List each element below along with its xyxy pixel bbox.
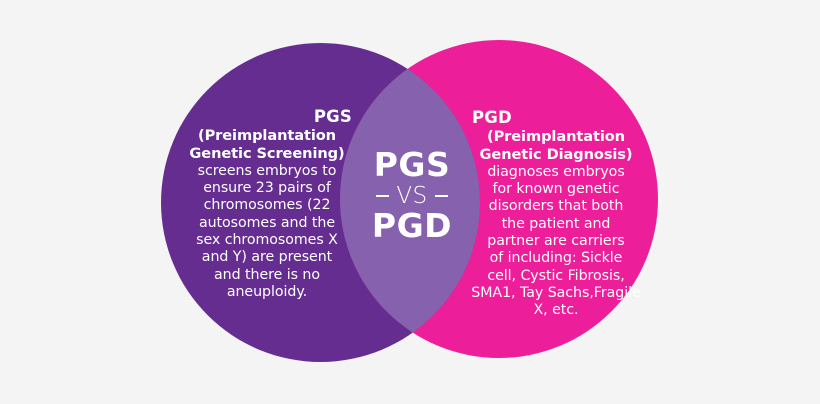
pgd-description-line: partner are carriers [466,233,646,250]
pgs-description-line: and Y) are present [178,249,356,266]
center-vs-badge: PGS VS PGD [358,148,466,243]
venn-diagram: PGS (Preimplantation Genetic Screening) … [0,0,820,404]
pgd-expansion-line-1: (Preimplantation [466,128,646,146]
pgd-expansion-line-2: Genetic Diagnosis) [466,146,646,164]
pgd-description-line: disorders that both [466,198,646,215]
pgd-description-line: of including: Sickle [466,250,646,267]
pgs-description-line: sex chromosomes X [178,232,356,249]
pgd-description-line: diagnoses embryos [466,164,646,181]
pgd-description-line: the patient and [466,216,646,233]
dash-right-icon [435,195,448,197]
pgs-description-line: autosomes and the [178,215,356,232]
dash-left-icon [376,195,389,197]
pgs-text-block: PGS (Preimplantation Genetic Screening) … [178,107,356,301]
pgs-abbreviation: PGS [178,107,356,127]
pgs-expansion-line-1: (Preimplantation [178,127,356,145]
center-vs-row: VS [358,185,466,208]
pgs-description-line: ensure 23 pairs of [178,180,356,197]
pgs-expansion-line-2: Genetic Screening) [178,145,356,163]
pgd-description-line: for known genetic [466,181,646,198]
center-label-pgd: PGD [358,209,466,244]
center-label-pgs: PGS [358,148,466,183]
pgs-description-line: chromosomes (22 [178,197,356,214]
pgd-description-line: SMA1, Tay Sachs,Fragile [466,285,646,302]
center-label-vs: VS [396,185,427,208]
pgs-description-line: screens embryos to [178,163,356,180]
pgd-description-line: X, etc. [466,302,646,319]
pgs-description-line: aneuploidy. [178,284,356,301]
pgd-abbreviation: PGD [466,108,646,128]
pgs-description-line: and there is no [178,267,356,284]
pgd-description-line: cell, Cystic Fibrosis, [466,268,646,285]
pgd-text-block: PGD (Preimplantation Genetic Diagnosis) … [466,108,646,320]
